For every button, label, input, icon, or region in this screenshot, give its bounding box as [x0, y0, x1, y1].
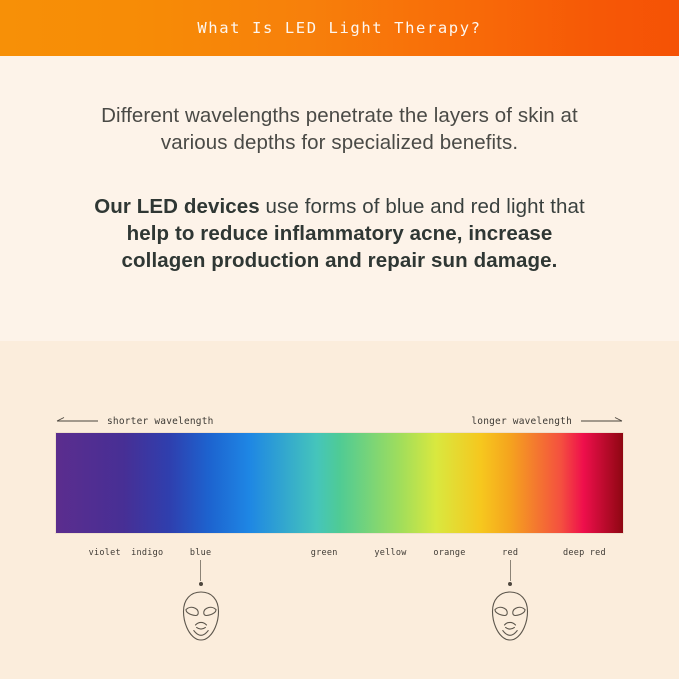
led-light-therapy-infographic: What Is LED Light Therapy? Different wav… — [0, 0, 679, 679]
spectrum-tick-deep-red: deep red — [563, 548, 606, 558]
arrow-left-icon — [56, 417, 98, 425]
page-title: What Is LED Light Therapy? — [197, 19, 481, 37]
intro-regular-mid: use forms of blue and red light that — [260, 195, 585, 218]
intro-paragraph-1: Different wavelengths penetrate the laye… — [80, 102, 600, 157]
spectrum-callout-blue — [178, 560, 224, 643]
callout-connector-line — [510, 560, 511, 581]
spectrum-tick-indigo: indigo — [131, 548, 163, 558]
intro-bold-lead: Our LED devices — [94, 195, 260, 218]
callout-connector-line — [200, 560, 201, 581]
spectrum-callout-red — [487, 560, 533, 643]
intro-section: Different wavelengths penetrate the laye… — [0, 56, 679, 341]
spectrum-tick-orange: orange — [433, 548, 465, 558]
header-banner: What Is LED Light Therapy? — [0, 0, 679, 56]
intro-bold-tail: help to reduce inflammatory acne, increa… — [122, 222, 558, 272]
callout-anchor-dot — [199, 582, 203, 586]
led-face-mask-icon — [178, 589, 224, 643]
longer-wavelength-note: longer wavelength — [471, 416, 623, 427]
spectrum-tick-labels: violetindigobluegreenyelloworangereddeep… — [0, 548, 679, 562]
spectrum-tick-green: green — [311, 548, 338, 558]
longer-wavelength-label: longer wavelength — [471, 416, 572, 427]
arrow-right-icon — [581, 417, 623, 425]
spectrum-tick-yellow: yellow — [374, 548, 406, 558]
spectrum-tick-red: red — [502, 548, 518, 558]
spectrum-axis-notes: shorter wavelength longer wavelength — [56, 413, 623, 429]
callout-anchor-dot — [508, 582, 512, 586]
shorter-wavelength-note: shorter wavelength — [56, 416, 214, 427]
intro-paragraph-2: Our LED devices use forms of blue and re… — [90, 193, 590, 274]
shorter-wavelength-label: shorter wavelength — [107, 416, 214, 427]
spectrum-tick-violet: violet — [89, 548, 121, 558]
spectrum-section: shorter wavelength longer wavelength vio… — [0, 341, 679, 679]
visible-light-spectrum-bar — [56, 433, 623, 533]
led-face-mask-icon — [487, 589, 533, 643]
spectrum-tick-blue: blue — [190, 548, 211, 558]
